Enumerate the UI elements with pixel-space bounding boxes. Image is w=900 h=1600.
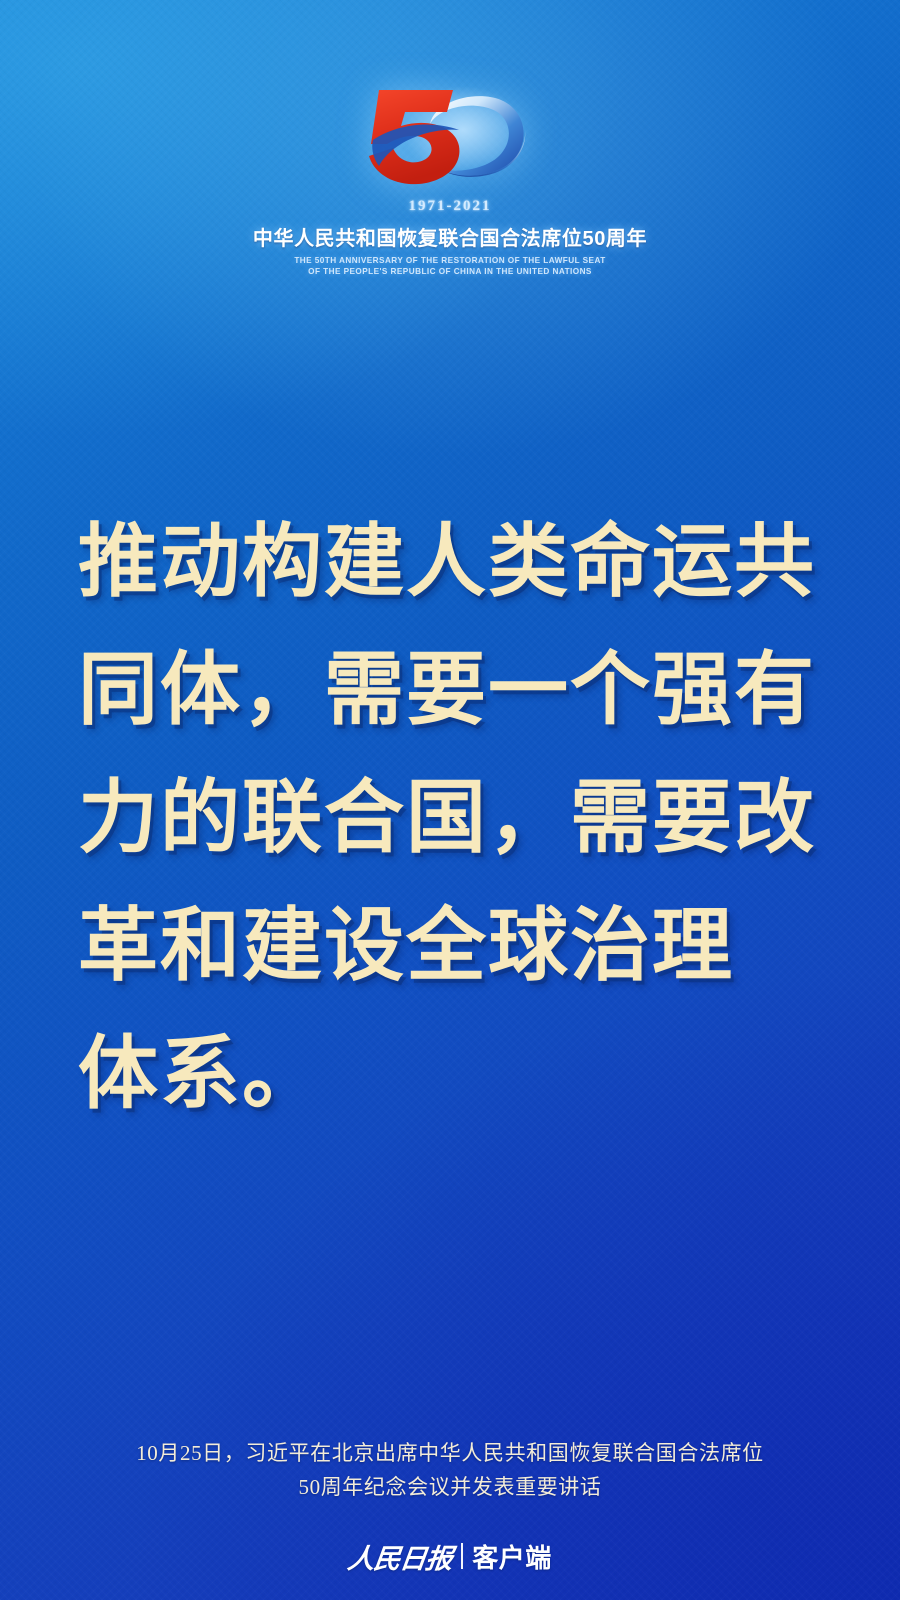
headline-quote: 推动构建人类命运共 同体，需要一个强有 力的联合国，需要改 革和建设全球治理 体… <box>78 498 828 1138</box>
emblem-years-label: 1971-2021 <box>409 198 492 215</box>
emblem-title-en-line1: THE 50TH ANNIVERSARY OF THE RESTORATION … <box>294 255 605 266</box>
emblem-title-en-line2: OF THE PEOPLE'S REPUBLIC OF CHINA IN THE… <box>308 266 592 277</box>
headline-line: 革和建设全球治理 <box>78 882 828 1010</box>
anniversary-emblem: 1971-2021 中华人民共和国恢复联合国合法席位50周年 THE 50TH … <box>0 78 900 277</box>
headline-line: 体系。 <box>78 1010 828 1138</box>
anniversary-50-logo-icon <box>335 78 565 196</box>
brand-app-label: 客户端 <box>472 1538 552 1575</box>
caption-line: 50周年纪念会议并发表重要讲话 <box>0 1470 900 1504</box>
footer-brand: 人民日报 客户端 <box>0 1528 900 1584</box>
headline-line: 力的联合国，需要改 <box>78 754 828 882</box>
emblem-title-cn: 中华人民共和国恢复联合国合法席位50周年 <box>253 222 647 251</box>
poster-canvas: 1971-2021 中华人民共和国恢复联合国合法席位50周年 THE 50TH … <box>0 0 900 1600</box>
brand-divider <box>461 1543 463 1569</box>
caption-block: 10月25日，习近平在北京出席中华人民共和国恢复联合国合法席位 50周年纪念会议… <box>0 1436 900 1504</box>
headline-line: 同体，需要一个强有 <box>78 626 828 754</box>
caption-line: 10月25日，习近平在北京出席中华人民共和国恢复联合国合法席位 <box>0 1436 900 1470</box>
headline-line: 推动构建人类命运共 <box>78 498 828 626</box>
brand-name-label: 人民日报 <box>346 1537 464 1576</box>
